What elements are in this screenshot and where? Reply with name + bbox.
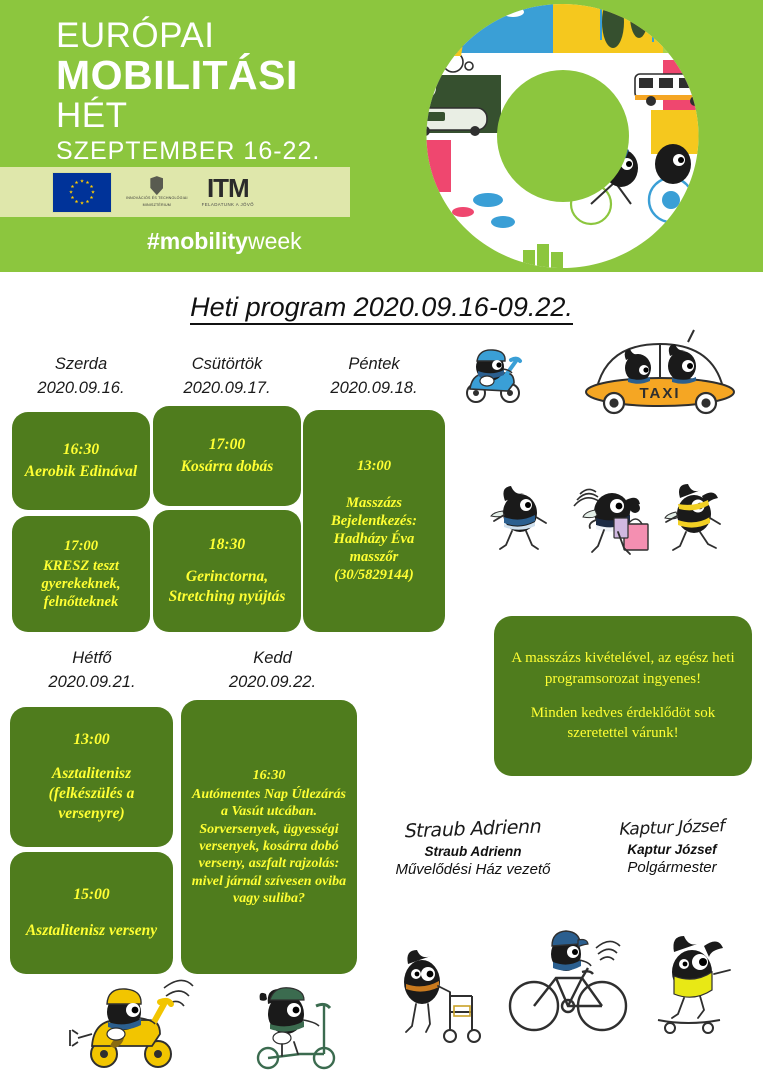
event-box-kedd-1[interactable]: 16:30 Autómentes Nap Útlezárás a Vasút u… [181, 700, 357, 974]
event-time: 16:30 [63, 440, 99, 460]
scooter-rider-blue-icon [462, 345, 534, 407]
cyclist-bird-icon [508, 928, 628, 1038]
day-header-pentek: Péntek 2020.09.18. [303, 353, 445, 401]
mobility-week-hashtag: #mobilityweek [147, 228, 302, 255]
running-bird-icon [660, 482, 726, 556]
day-name: Csütörtök [155, 353, 299, 377]
banner-title-block: EURÓPAI MOBILITÁSI HÉT SZEPTEMBER 16-22. [56, 18, 376, 164]
event-desc: Asztalitenisz (felkészülés a versenyre) [17, 764, 166, 823]
hungarian-coat-of-arms-icon [150, 176, 163, 195]
event-box-hetfo-2[interactable]: 15:00 Asztalitenisz verseny [10, 852, 173, 974]
event-time: 15:00 [73, 885, 109, 905]
signature-block-straub: Straub Adrienn Straub Adrienn Művelődési… [378, 818, 568, 878]
page-title: Heti program 2020.09.16-09.22. [0, 292, 763, 323]
ministry-caption-line-1: INNOVÁCIÓS ÉS TECHNOLÓGIAI [126, 196, 188, 201]
day-header-csutortok: Csütörtök 2020.09.17. [155, 353, 299, 401]
eu-flag-icon [52, 172, 112, 213]
itm-tagline: FELADATUNK A JÖVŐ [202, 202, 254, 207]
event-box-szerda-2[interactable]: 17:00 KRESZ teszt gyerekeknek, felnőttek… [12, 516, 150, 632]
event-desc: Autómentes Nap Útlezárás a Vasút utcában… [188, 786, 350, 908]
taxi-label: TAXI [639, 385, 680, 402]
signature-name: Straub Adrienn [378, 844, 568, 859]
hashtag-light-part: week [248, 228, 302, 254]
banner-line-3: HÉT [56, 98, 376, 133]
day-date: 2020.09.21. [12, 671, 172, 695]
kick-scooter-bird-icon [238, 978, 348, 1076]
day-date: 2020.09.17. [155, 377, 299, 401]
banner-line-4: SZEPTEMBER 16-22. [56, 139, 376, 164]
poster-root: EURÓPAI MOBILITÁSI HÉT SZEPTEMBER 16-22.… [0, 0, 763, 1080]
event-time: 13:00 [357, 457, 391, 475]
banner-line-2: MOBILITÁSI [56, 55, 376, 96]
notice-paragraph-1: A masszázs kivételével, az egész heti pr… [508, 648, 738, 689]
day-date: 2020.09.16. [12, 377, 150, 401]
header-banner: EURÓPAI MOBILITÁSI HÉT SZEPTEMBER 16-22.… [0, 0, 763, 272]
logo-strip: INNOVÁCIÓS ÉS TECHNOLÓGIAI MINISZTÉRIUM … [0, 167, 350, 217]
banner-line-1: EURÓPAI [56, 18, 376, 53]
event-time: 18:30 [209, 535, 245, 555]
day-header-kedd: Kedd 2020.09.22. [185, 647, 360, 695]
event-time: 17:00 [64, 537, 98, 555]
hashtag-bold-part: #mobility [147, 228, 248, 254]
ministry-caption-line-2: MINISZTÉRIUM [143, 203, 171, 208]
itm-logo: ITM FELADATUNK A JÖVŐ [202, 177, 254, 206]
banner-artwork [363, 0, 763, 272]
event-time: 17:00 [209, 435, 245, 455]
ministry-logo: INNOVÁCIÓS ÉS TECHNOLÓGIAI MINISZTÉRIUM [126, 176, 188, 208]
event-desc: KRESZ teszt gyerekeknek, felnőtteknek [19, 557, 143, 612]
event-desc: Kosárra dobás [181, 457, 274, 477]
walking-bird-icon [488, 483, 550, 555]
day-date: 2020.09.22. [185, 671, 360, 695]
event-time: 13:00 [73, 730, 109, 750]
day-date: 2020.09.18. [303, 377, 445, 401]
event-desc: Asztalitenisz verseny [26, 921, 157, 941]
signature-name: Kaptur József [588, 842, 756, 857]
day-header-hetfo: Hétfő 2020.09.21. [12, 647, 172, 695]
notice-paragraph-2: Minden kedves érdeklődöt sok szeretettel… [508, 703, 738, 744]
walker-bird-icon [392, 940, 486, 1048]
day-name: Kedd [185, 647, 360, 671]
event-box-pentek-1[interactable]: 13:00 Masszázs Bejelentkezés: Hadházy Év… [303, 410, 445, 632]
taxi-car-icon: TAXI [576, 340, 744, 416]
page-title-text: Heti program 2020.09.16-09.22. [190, 292, 573, 325]
e-scooter-bird-icon [62, 972, 202, 1076]
signature-role: Művelődési Ház vezető [378, 861, 568, 878]
day-header-szerda: Szerda 2020.09.16. [12, 353, 150, 401]
signature-role: Polgármester [588, 859, 756, 876]
day-name: Szerda [12, 353, 150, 377]
skateboard-bird-icon [640, 930, 752, 1038]
day-name: Péntek [303, 353, 445, 377]
event-box-csutortok-1[interactable]: 17:00 Kosárra dobás [153, 406, 301, 506]
event-box-hetfo-1[interactable]: 13:00 Asztalitenisz (felkészülés a verse… [10, 707, 173, 847]
day-name: Hétfő [12, 647, 172, 671]
itm-logo-text: ITM [207, 177, 249, 200]
event-box-csutortok-2[interactable]: 18:30 Gerinctorna, Stretching nyújtás [153, 510, 301, 632]
notice-box: A masszázs kivételével, az egész heti pr… [494, 616, 752, 776]
event-desc: Aerobik Edinával [25, 462, 137, 482]
shopping-bird-icon [568, 478, 660, 564]
event-box-szerda-1[interactable]: 16:30 Aerobik Edinával [12, 412, 150, 510]
event-desc: Masszázs Bejelentkezés: Hadházy Éva mass… [310, 494, 438, 585]
event-desc: Gerinctorna, Stretching nyújtás [160, 567, 294, 607]
signature-handwriting: Kaptur József [586, 815, 759, 841]
event-time: 16:30 [253, 767, 286, 784]
signature-handwriting: Straub Adrienn [375, 815, 570, 844]
signature-block-kaptur: Kaptur József Kaptur József Polgármester [588, 818, 756, 876]
